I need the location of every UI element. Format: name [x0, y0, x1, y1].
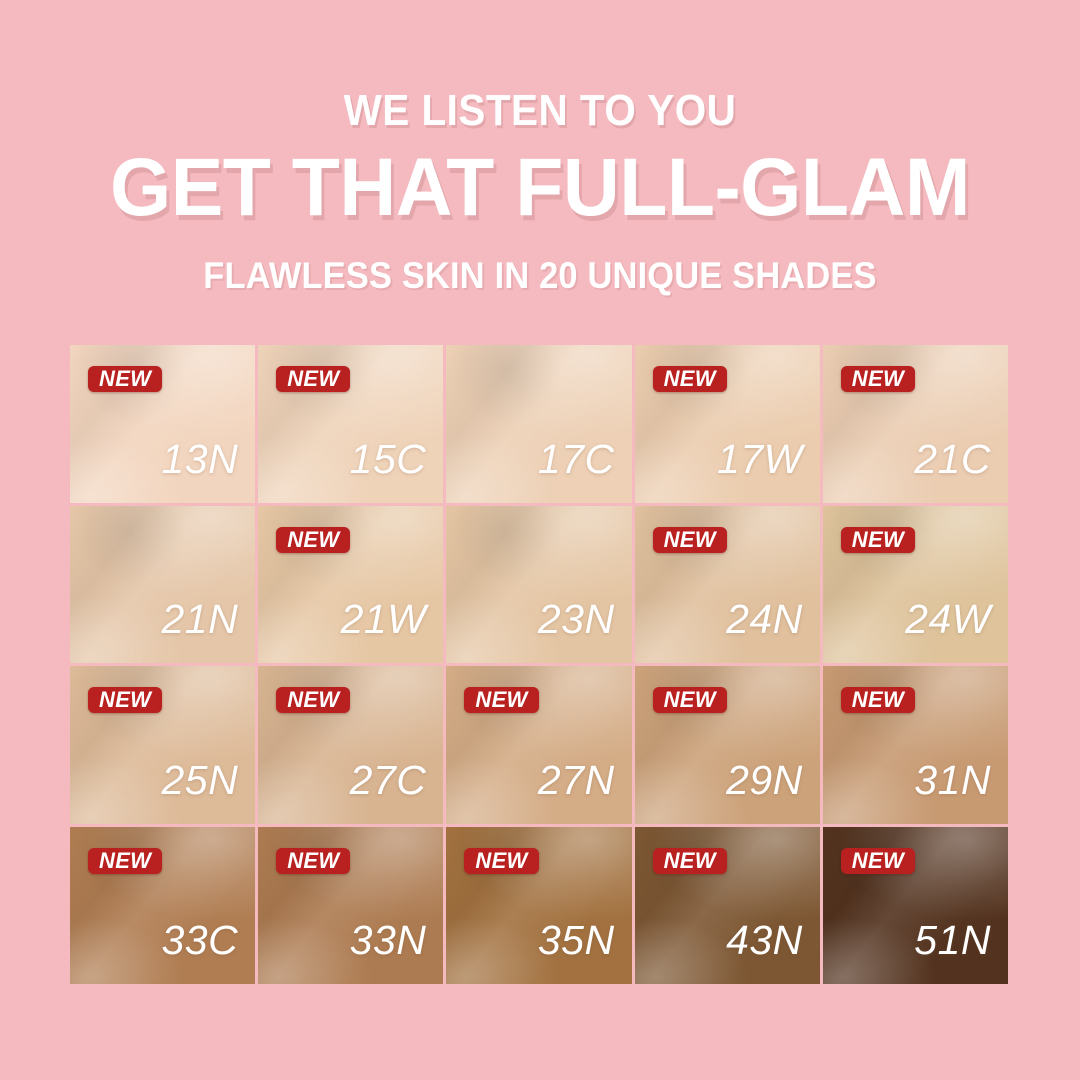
- shade-code-label: 27C: [350, 758, 427, 802]
- shade-code-label: 24W: [905, 597, 991, 641]
- page-title: GET THAT FULL-GLAM: [22, 142, 1059, 234]
- shade-swatch[interactable]: NEW51N: [823, 827, 1008, 985]
- new-badge: NEW: [841, 527, 915, 553]
- shade-code-label: 33N: [350, 918, 427, 962]
- shade-swatch[interactable]: NEW29N: [635, 666, 820, 824]
- shade-swatch[interactable]: NEW33N: [258, 827, 443, 985]
- shade-swatch[interactable]: NEW33C: [70, 827, 255, 985]
- shade-code-label: 23N: [538, 597, 615, 641]
- new-badge: NEW: [653, 527, 727, 553]
- shade-code-label: 17C: [538, 437, 615, 481]
- new-badge: NEW: [276, 848, 350, 874]
- shade-code-label: 51N: [914, 918, 991, 962]
- shade-code-label: 31N: [914, 758, 991, 802]
- shade-swatch[interactable]: NEW21C: [823, 345, 1008, 503]
- shade-swatch[interactable]: NEW13N: [70, 345, 255, 503]
- shade-code-label: 21W: [341, 597, 427, 641]
- shade-code-label: 15C: [350, 437, 427, 481]
- new-badge: NEW: [276, 527, 350, 553]
- new-badge: NEW: [276, 366, 350, 392]
- shade-swatch[interactable]: NEW15C: [258, 345, 443, 503]
- shade-swatch[interactable]: 23N: [446, 506, 631, 664]
- poster-canvas: WE LISTEN TO YOU GET THAT FULL-GLAM FLAW…: [0, 0, 1080, 1080]
- shade-swatch[interactable]: NEW17W: [635, 345, 820, 503]
- shade-swatch[interactable]: NEW31N: [823, 666, 1008, 824]
- new-badge: NEW: [464, 687, 538, 713]
- new-badge: NEW: [464, 848, 538, 874]
- shade-code-label: 24N: [726, 597, 803, 641]
- shade-swatch[interactable]: 21N: [70, 506, 255, 664]
- new-badge: NEW: [653, 687, 727, 713]
- shade-swatch[interactable]: NEW21W: [258, 506, 443, 664]
- shade-swatch[interactable]: NEW24N: [635, 506, 820, 664]
- shade-swatch[interactable]: NEW25N: [70, 666, 255, 824]
- header-block: WE LISTEN TO YOU GET THAT FULL-GLAM FLAW…: [0, 0, 1080, 298]
- shade-swatch[interactable]: 17C: [446, 345, 631, 503]
- shade-code-label: 29N: [726, 758, 803, 802]
- new-badge: NEW: [276, 687, 350, 713]
- shade-code-label: 13N: [161, 437, 238, 481]
- new-badge: NEW: [653, 848, 727, 874]
- shade-code-label: 21N: [161, 597, 238, 641]
- shade-code-label: 17W: [717, 437, 803, 481]
- new-badge: NEW: [841, 366, 915, 392]
- shade-swatch[interactable]: NEW27C: [258, 666, 443, 824]
- new-badge: NEW: [653, 366, 727, 392]
- new-badge: NEW: [88, 687, 162, 713]
- new-badge: NEW: [841, 848, 915, 874]
- eyebrow-text: WE LISTEN TO YOU: [43, 86, 1037, 136]
- shade-code-label: 21C: [914, 437, 991, 481]
- shade-code-label: 35N: [538, 918, 615, 962]
- shade-code-label: 43N: [726, 918, 803, 962]
- new-badge: NEW: [841, 687, 915, 713]
- shade-code-label: 33C: [161, 918, 238, 962]
- shade-swatch[interactable]: NEW43N: [635, 827, 820, 985]
- shade-swatch[interactable]: NEW24W: [823, 506, 1008, 664]
- shade-code-label: 27N: [538, 758, 615, 802]
- shade-code-label: 25N: [161, 758, 238, 802]
- new-badge: NEW: [88, 366, 162, 392]
- subtitle-text: FLAWLESS SKIN IN 20 UNIQUE SHADES: [38, 254, 1042, 298]
- shade-swatch[interactable]: NEW35N: [446, 827, 631, 985]
- shade-swatch-grid: NEW13NNEW15C17CNEW17WNEW21C21NNEW21W23NN…: [70, 345, 1008, 984]
- new-badge: NEW: [88, 848, 162, 874]
- shade-swatch[interactable]: NEW27N: [446, 666, 631, 824]
